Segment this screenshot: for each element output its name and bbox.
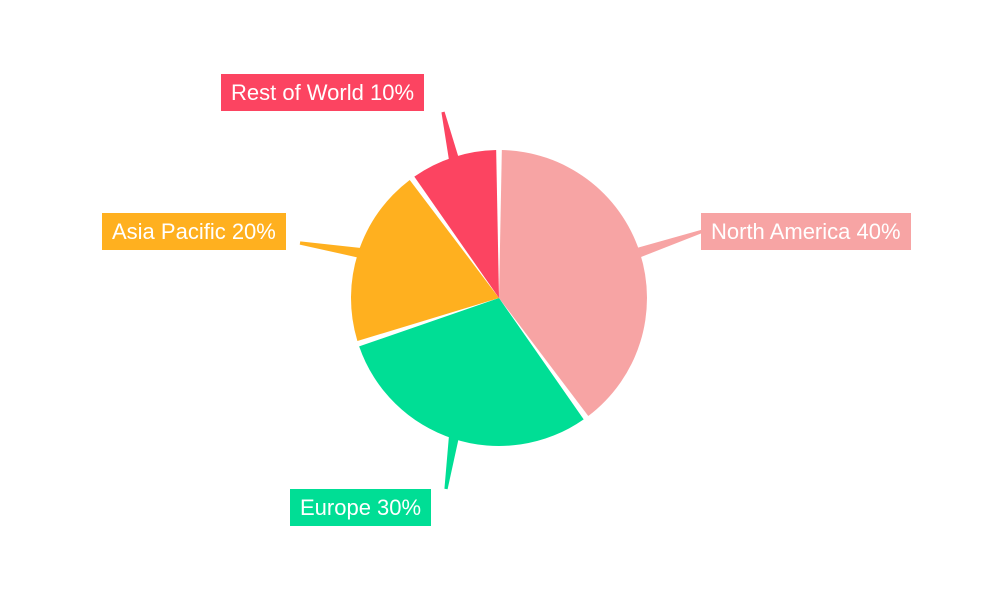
pie-label-europe: Europe 30%: [290, 489, 431, 526]
pie-slices: [351, 150, 647, 446]
leader-line-rest-of-world: [441, 112, 458, 161]
pie-label-rest-of-world: Rest of World 10%: [221, 74, 424, 111]
pie-label-north-america: North America 40%: [701, 213, 911, 250]
pie-chart-canvas: [0, 0, 1000, 600]
pie-chart: North America 40% Europe 30% Asia Pacifi…: [0, 0, 1000, 600]
leader-line-asia-pacific: [300, 241, 361, 257]
leader-line-europe: [444, 436, 458, 489]
leader-line-north-america: [636, 229, 703, 257]
pie-label-asia-pacific: Asia Pacific 20%: [102, 213, 286, 250]
